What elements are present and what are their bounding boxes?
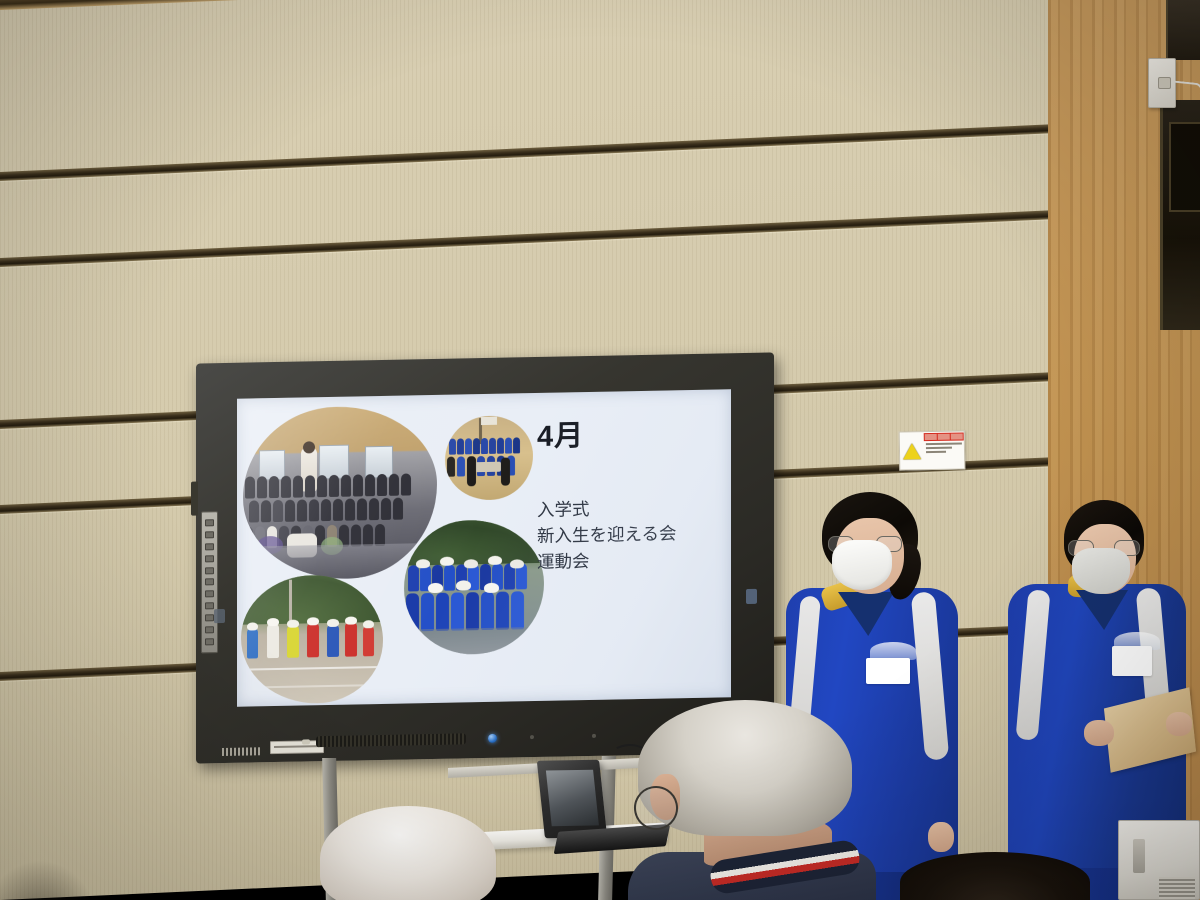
control-button[interactable] xyxy=(205,531,214,538)
laptop-screen[interactable] xyxy=(537,760,607,839)
equipment-cabinet xyxy=(1118,820,1200,900)
sports-day-race-photo xyxy=(241,574,383,705)
slide-bullet-list: 入学式 新入生を迎える会 運動会 xyxy=(537,494,725,575)
slide-title: 4月 xyxy=(537,419,725,452)
control-button[interactable] xyxy=(205,567,214,574)
bezel-brand-text xyxy=(222,747,262,756)
cabinet-vent xyxy=(1159,877,1195,899)
electrical-hazard-warning-sign xyxy=(899,430,966,470)
control-button[interactable] xyxy=(205,555,214,562)
warning-triangle-icon xyxy=(900,432,925,469)
name-badge-redacted xyxy=(1112,646,1152,676)
display-control-strip[interactable] xyxy=(201,511,218,653)
audience-white-haired xyxy=(320,806,496,900)
control-button[interactable] xyxy=(205,602,214,609)
face-mask xyxy=(1072,548,1130,594)
control-button[interactable] xyxy=(205,626,214,633)
hand xyxy=(1084,720,1114,746)
gym-assembly-photo xyxy=(445,415,533,501)
audience-dark-haired xyxy=(900,852,1090,900)
warning-sign-body xyxy=(924,431,965,469)
slide-bullet: 入学式 xyxy=(537,494,725,524)
control-button[interactable] xyxy=(205,579,214,586)
ceiling-vent xyxy=(1166,0,1200,60)
tug-of-war-photo xyxy=(404,519,544,656)
control-button[interactable] xyxy=(205,543,214,550)
slide-bullet: 新入生を迎える会 xyxy=(537,520,725,550)
audience-grey-haired-man xyxy=(628,700,876,900)
hand xyxy=(1166,712,1192,736)
control-button[interactable] xyxy=(205,591,214,598)
control-button[interactable] xyxy=(205,519,214,526)
hair xyxy=(900,852,1090,900)
display-side-handle xyxy=(191,482,198,516)
control-button[interactable] xyxy=(205,638,214,645)
face-mask xyxy=(832,540,892,590)
wall-outlet-plate[interactable] xyxy=(1148,58,1176,108)
slide-text-block: 4月 入学式 新入生を迎える会 運動会 xyxy=(537,419,725,575)
display-side-port-right[interactable] xyxy=(746,589,757,604)
name-badge-redacted xyxy=(866,658,910,684)
warning-text-lines xyxy=(924,440,964,453)
hair xyxy=(320,806,496,900)
hand xyxy=(928,822,954,852)
photo-scene: 4月 入学式 新入生を迎える会 運動会 xyxy=(0,0,1200,900)
control-button[interactable] xyxy=(205,614,214,621)
wall-speaker xyxy=(1160,100,1200,330)
presentation-slide: 4月 入学式 新入生を迎える会 運動会 xyxy=(237,389,731,706)
display-screen[interactable]: 4月 入学式 新入生を迎える会 運動会 xyxy=(237,389,731,706)
slide-bullet: 運動会 xyxy=(537,546,725,576)
display-side-port-left[interactable] xyxy=(214,609,225,623)
